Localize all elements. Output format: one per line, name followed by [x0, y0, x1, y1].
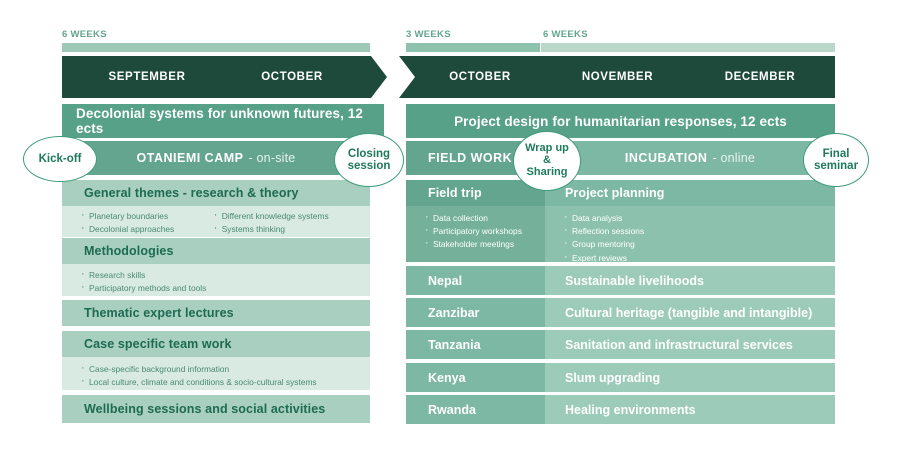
right-phase-1-light: - online — [712, 151, 755, 165]
badge-closing-line2: session — [348, 160, 391, 172]
case-place-3: Kenya — [406, 363, 545, 392]
case-topic-3: Slum upgrading — [545, 363, 835, 392]
left-phase-light: - on-site — [249, 151, 296, 165]
case-place-4: Rwanda — [406, 395, 545, 424]
left-course-title: Decolonial systems for unknown futures, … — [62, 104, 384, 138]
left-section-0-bullets-col2: Different knowledge systems Systems thin… — [213, 210, 370, 237]
right-phase-0-strong: FIELD WORK — [428, 151, 512, 165]
left-month-1: OCTOBER — [222, 71, 362, 83]
case-topic-1: Cultural heritage (tangible and intangib… — [545, 298, 835, 327]
list-item: Systems thinking — [213, 223, 370, 236]
left-week-label-0: 6 WEEKS — [62, 29, 107, 40]
table-row: Kenya Slum upgrading — [406, 363, 835, 392]
left-section-4-heading: Wellbeing sessions and social activities — [62, 395, 370, 423]
list-item: Participatory methods and tools — [80, 282, 370, 295]
list-item: Stakeholder meetings — [424, 238, 545, 251]
list-item: Different knowledge systems — [213, 210, 370, 223]
right-activity-right-heading: Project planning — [545, 180, 835, 206]
right-month-header: OCTOBER NOVEMBER DECEMBER — [399, 56, 835, 98]
right-phase-band: FIELD WORK INCUBATION - online — [406, 141, 835, 175]
left-phase-otaniemi: OTANIEMI CAMP - on-site — [62, 141, 370, 175]
left-section-0-heading: General themes - research & theory — [62, 180, 370, 206]
left-month-header: SEPTEMBER OCTOBER — [62, 56, 387, 98]
badge-kick-off-label: Kick-off — [39, 153, 82, 165]
right-month-1: NOVEMBER — [545, 71, 690, 83]
case-place-2: Tanzania — [406, 330, 545, 359]
right-week-label-0: 3 WEEKS — [406, 29, 451, 40]
left-section-3-bullets: Case-specific background information Loc… — [80, 363, 370, 390]
list-item: Case-specific background information — [80, 363, 370, 376]
left-section-0-bullets-col1: Planetary boundaries Decolonial approach… — [80, 210, 213, 237]
case-topic-4: Healing environments — [545, 395, 835, 424]
right-activity-left-body: Data collection Participatory workshops … — [406, 206, 545, 262]
right-week-bar-1 — [541, 43, 835, 52]
badge-kick-off[interactable]: Kick-off — [23, 136, 97, 182]
list-item: Reflection sessions — [563, 225, 835, 238]
badge-closing-line1: Closing — [348, 148, 390, 160]
table-row: Nepal Sustainable livelihoods — [406, 266, 835, 295]
badge-final-line2: seminar — [814, 160, 858, 172]
case-place-0: Nepal — [406, 266, 545, 295]
badge-final-seminar[interactable]: Final seminar — [803, 133, 869, 187]
right-week-bar-0 — [406, 43, 540, 52]
left-phase-strong: OTANIEMI CAMP — [137, 151, 244, 165]
list-item: Participatory workshops — [424, 225, 545, 238]
right-month-2: DECEMBER — [690, 71, 830, 83]
right-activity-left-bullets: Data collection Participatory workshops … — [424, 212, 545, 252]
badge-closing-session[interactable]: Closing session — [334, 133, 404, 187]
table-row: Rwanda Healing environments — [406, 395, 835, 424]
badge-final-line1: Final — [823, 148, 850, 160]
left-section-2-heading: Thematic expert lectures — [62, 300, 370, 326]
list-item: Expert reviews — [563, 252, 835, 265]
right-course-title: Project design for humanitarian response… — [406, 104, 835, 138]
course-timeline-diagram: 6 WEEKS SEPTEMBER OCTOBER Decolonial sys… — [0, 0, 914, 455]
list-item: Local culture, climate and conditions & … — [80, 376, 370, 389]
table-row: Zanzibar Cultural heritage (tangible and… — [406, 298, 835, 327]
list-item: Decolonial approaches — [80, 223, 213, 236]
left-section-1-body: Research skills Participatory methods an… — [62, 264, 370, 296]
left-week-bar-0 — [62, 43, 370, 52]
case-place-1: Zanzibar — [406, 298, 545, 327]
left-section-1-bullets: Research skills Participatory methods an… — [80, 269, 370, 296]
badge-wrap-line3: Sharing — [527, 167, 568, 179]
right-phase-1-strong: INCUBATION — [625, 151, 708, 165]
list-item: Planetary boundaries — [80, 210, 213, 223]
left-phase-band: OTANIEMI CAMP - on-site — [62, 141, 370, 175]
list-item: Research skills — [80, 269, 370, 282]
left-section-3-heading: Case specific team work — [62, 331, 370, 357]
right-activity-right-body: Data analysis Reflection sessions Group … — [545, 206, 835, 262]
right-week-label-1: 6 WEEKS — [543, 29, 588, 40]
list-item: Group mentoring — [563, 238, 835, 251]
badge-wrap-up-sharing[interactable]: Wrap up & Sharing — [513, 131, 581, 191]
left-section-0-body: Planetary boundaries Decolonial approach… — [62, 206, 370, 237]
table-row: Tanzania Sanitation and infrastructural … — [406, 330, 835, 359]
right-phase-incubation: INCUBATION - online — [545, 141, 835, 175]
right-activity-right-bullets: Data analysis Reflection sessions Group … — [563, 212, 835, 265]
list-item: Data analysis — [563, 212, 835, 225]
right-month-0: OCTOBER — [415, 71, 545, 83]
left-section-1-heading: Methodologies — [62, 238, 370, 264]
left-month-0: SEPTEMBER — [72, 71, 222, 83]
left-section-3-body: Case-specific background information Loc… — [62, 357, 370, 390]
case-topic-0: Sustainable livelihoods — [545, 266, 835, 295]
list-item: Data collection — [424, 212, 545, 225]
case-topic-2: Sanitation and infrastructural services — [545, 330, 835, 359]
